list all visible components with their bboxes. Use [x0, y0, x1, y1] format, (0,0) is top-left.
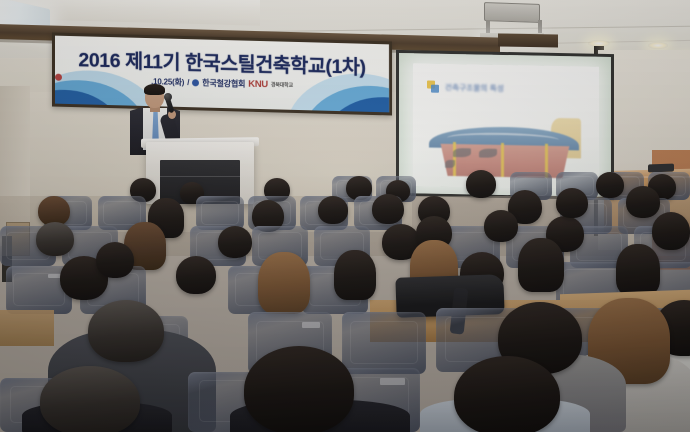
seat-panel — [350, 321, 417, 364]
audience-head — [40, 366, 140, 432]
audience-head — [556, 188, 588, 218]
seat-number-plate — [380, 378, 404, 384]
audience-head — [596, 172, 624, 198]
audience-head — [518, 238, 564, 292]
audience-head — [218, 226, 252, 258]
audience-head — [258, 252, 310, 314]
audience-head — [652, 212, 690, 250]
audience-head — [244, 346, 354, 432]
audience-head — [334, 250, 376, 300]
seat — [342, 312, 426, 374]
audience-head — [36, 222, 74, 256]
seat-panel — [201, 201, 239, 225]
audience-head — [466, 170, 496, 198]
audience-head — [484, 210, 518, 242]
lecture-hall-photo: 2016 제11기 한국스틸건축학교(1차) .10.25(화) / 한국철강협… — [0, 0, 690, 432]
audience-head — [372, 194, 404, 224]
audience-head — [96, 242, 134, 278]
audience-head — [616, 244, 660, 296]
auditorium-seating — [0, 0, 690, 432]
audience-head — [318, 196, 348, 224]
seat — [196, 196, 244, 230]
seat-number-plate — [302, 322, 320, 328]
audience-head — [88, 300, 164, 362]
left-table — [0, 310, 54, 346]
seat-panel — [103, 201, 141, 225]
audience-head — [176, 256, 216, 294]
audience-head — [626, 186, 660, 218]
audience-head — [454, 356, 560, 432]
